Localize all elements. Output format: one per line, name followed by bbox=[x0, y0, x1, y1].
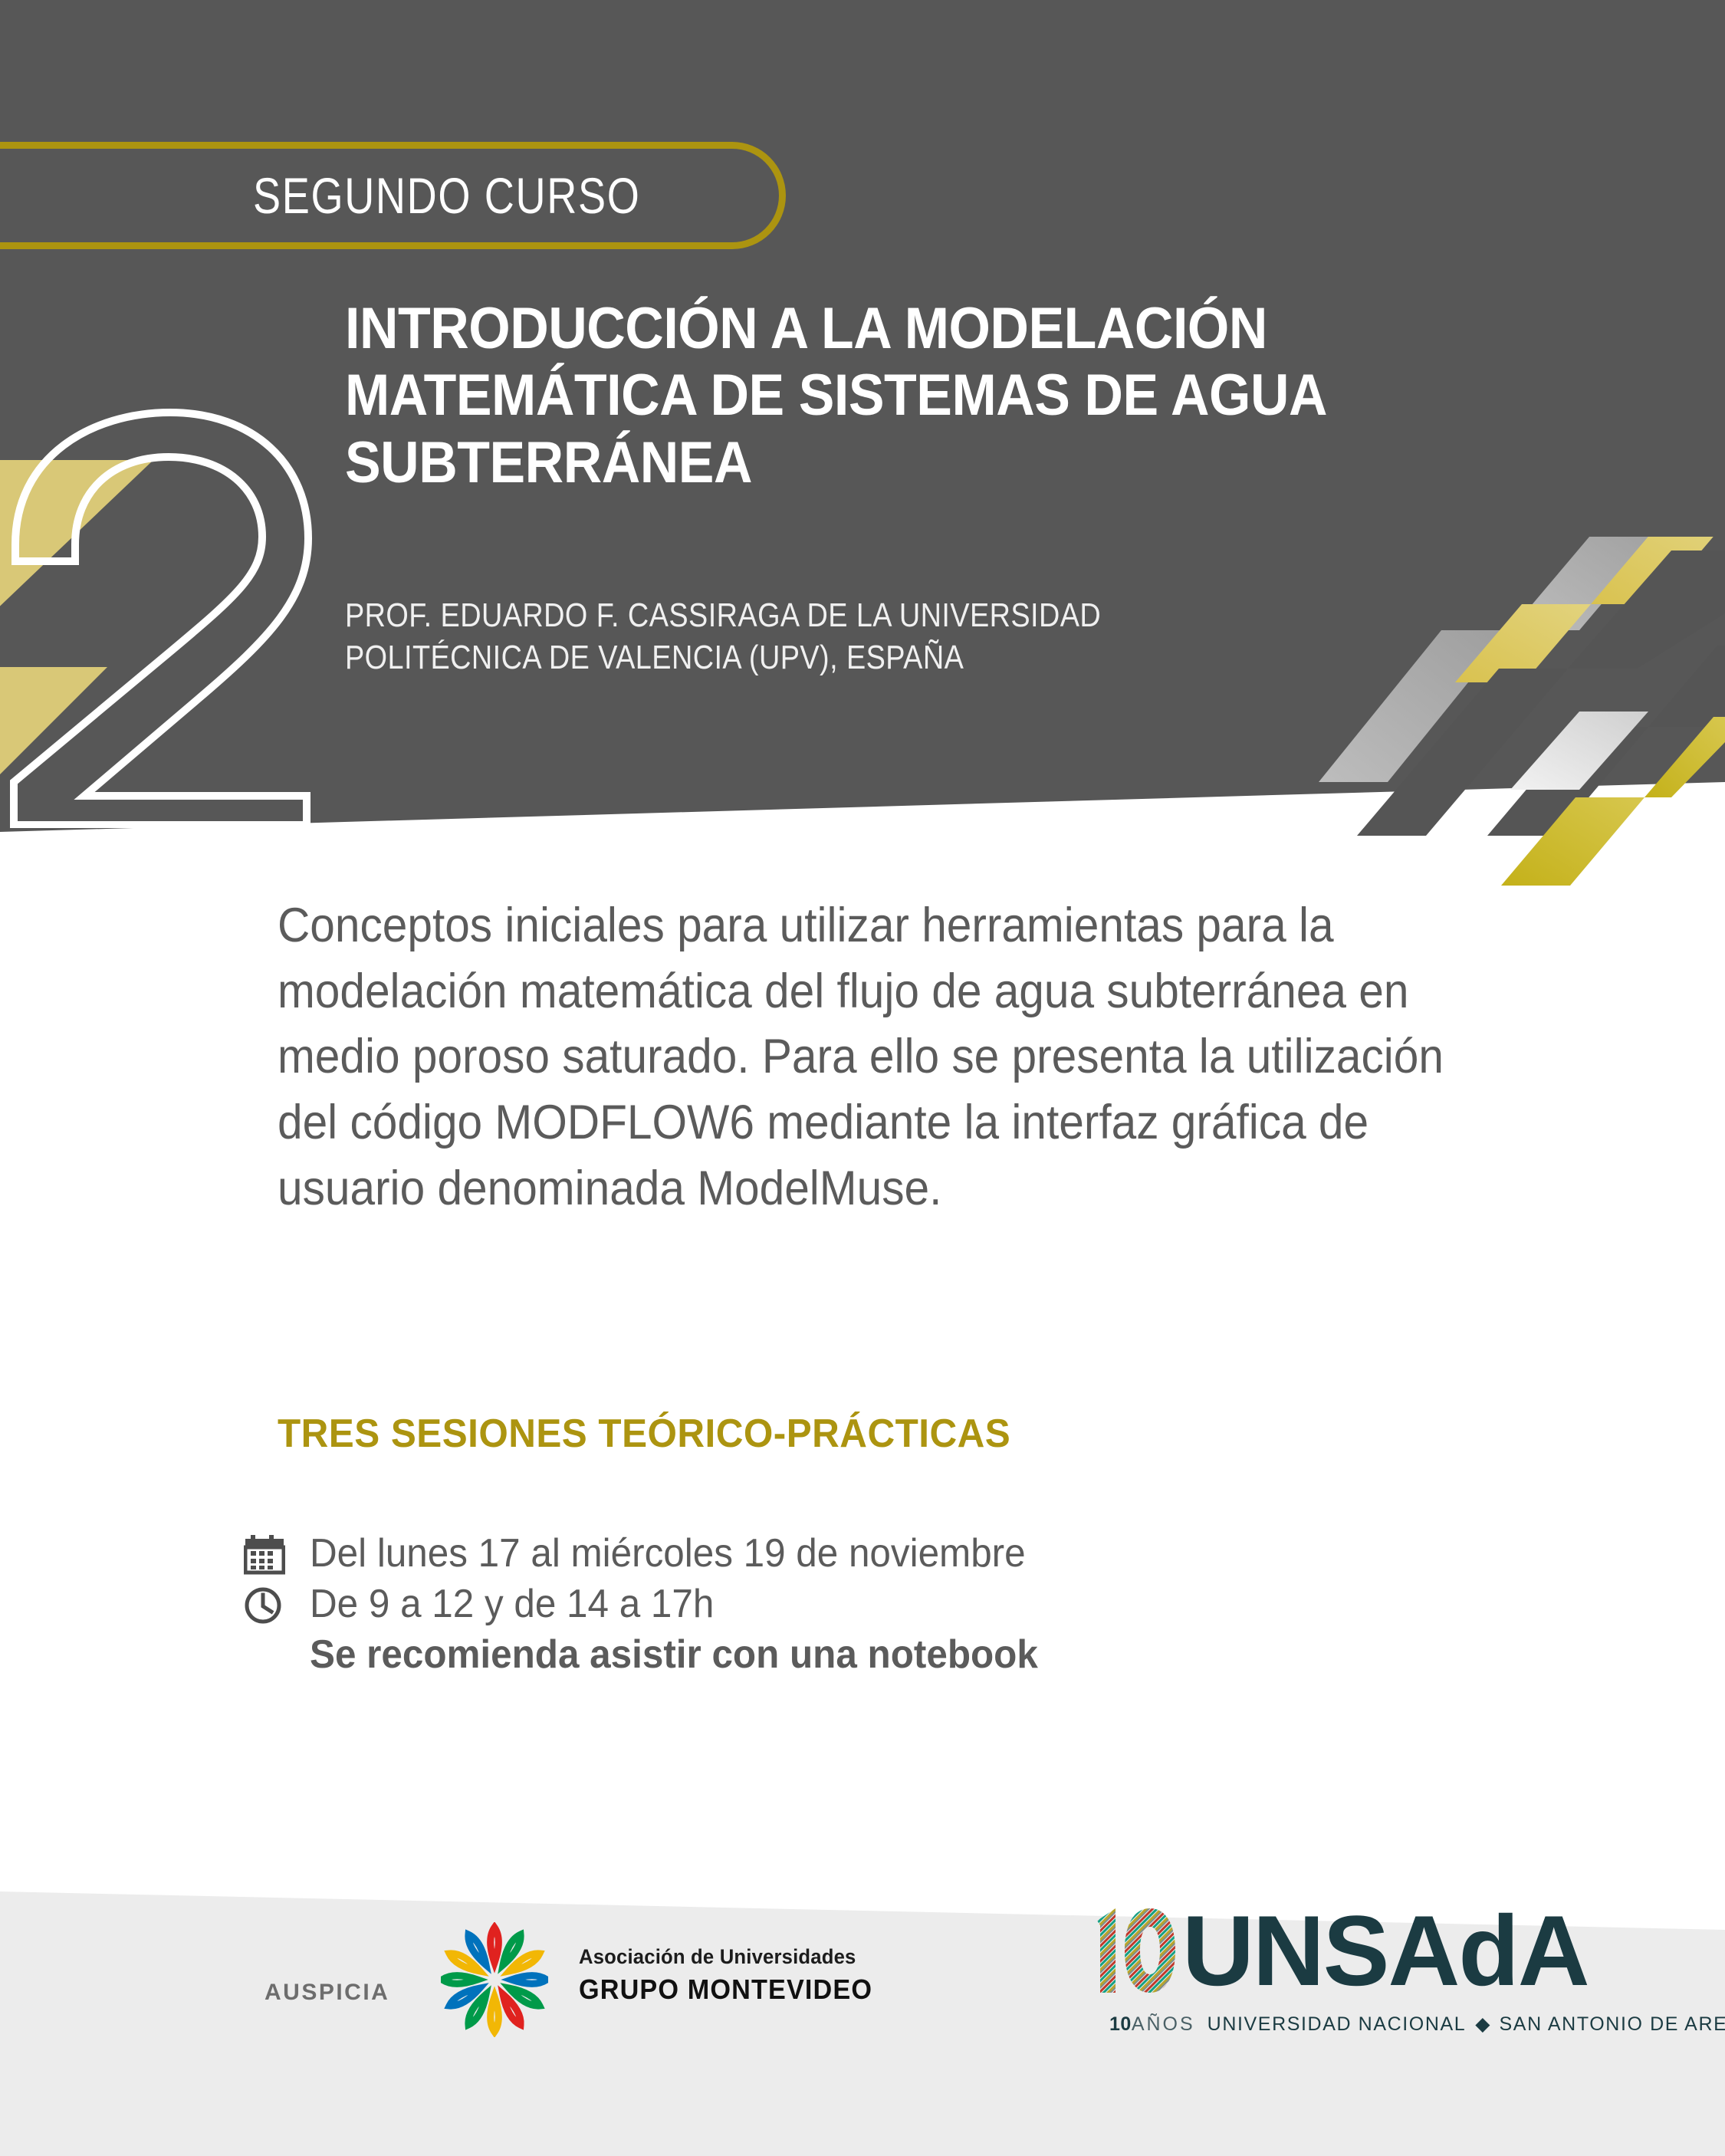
unsada-name: UNSAdA bbox=[1182, 1903, 1589, 1999]
unsada-sub-university: UNIVERSIDAD NACIONAL bbox=[1207, 2013, 1467, 2036]
unsada-wordmark: UNSAdA bbox=[1092, 1891, 1589, 1999]
unsada-sub-city: SAN ANTONIO DE ARECO bbox=[1500, 2013, 1725, 2036]
auspicia-label: AUSPICIA bbox=[264, 1980, 389, 2006]
schedule-note-text: Se recomienda asistir con una notebook bbox=[310, 1631, 1038, 1678]
professor-affiliation: PROF. EDUARDO F. CASSIRAGA DE LA UNIVERS… bbox=[345, 594, 1301, 679]
schedule-list: Del lunes 17 al miércoles 19 de noviembr… bbox=[244, 1530, 1394, 1681]
calendar-icon bbox=[244, 1530, 310, 1577]
diamond-separator-icon: ◆ bbox=[1475, 2013, 1490, 2036]
aug-line-1: Asociación de Universidades bbox=[579, 1945, 872, 1969]
grupo-montevideo-flower-icon bbox=[441, 1922, 548, 2037]
unsada-10-anniversary-icon bbox=[1092, 1891, 1181, 1999]
unsada-sub-anos: AÑOS bbox=[1132, 2013, 1195, 2036]
schedule-date-text: Del lunes 17 al miércoles 19 de noviembr… bbox=[310, 1530, 1026, 1577]
segundo-curso-label: SEGUNDO CURSO bbox=[253, 150, 640, 242]
sessions-heading: TRES SESIONES TEÓRICO-PRÁCTICAS bbox=[278, 1411, 1010, 1457]
schedule-row-time: De 9 a 12 y de 14 a 17h bbox=[244, 1580, 1394, 1628]
course-title: INTRODUCCIÓN A LA MODELACIÓN MATEMÁTICA … bbox=[345, 295, 1502, 496]
schedule-row-date: Del lunes 17 al miércoles 19 de noviembr… bbox=[244, 1530, 1394, 1577]
grupo-montevideo-text: Asociación de Universidades GRUPO MONTEV… bbox=[579, 1945, 888, 2006]
course-description: Conceptos iniciales para utilizar herram… bbox=[278, 893, 1447, 1221]
empty-icon-slot bbox=[244, 1631, 310, 1678]
unsada-logo: UNSAdA 10 AÑOS UNIVERSIDAD NACIONAL ◆ SA… bbox=[1092, 1891, 1598, 2068]
clock-icon bbox=[244, 1580, 310, 1628]
unsada-sub-10: 10 bbox=[1109, 2013, 1132, 2036]
unsada-subtitle: 10 AÑOS UNIVERSIDAD NACIONAL ◆ SAN ANTON… bbox=[1109, 2013, 1725, 2036]
aug-line-2: GRUPO MONTEVIDEO bbox=[579, 1974, 872, 2006]
footer-content: AUSPICIA bbox=[0, 1849, 1725, 2156]
schedule-row-note: Se recomienda asistir con una notebook bbox=[244, 1631, 1394, 1678]
schedule-time-text: De 9 a 12 y de 14 a 17h bbox=[310, 1580, 714, 1628]
